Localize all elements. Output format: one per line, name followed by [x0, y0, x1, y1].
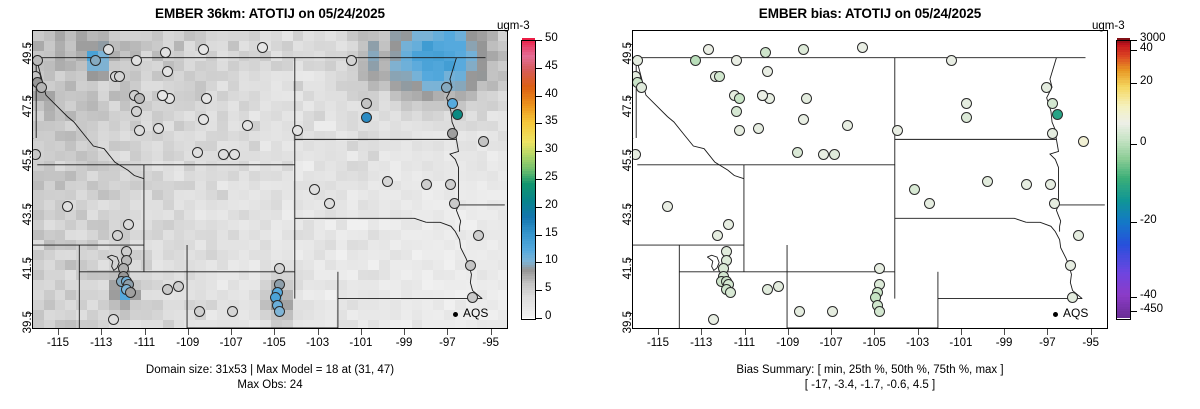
station-marker [274, 306, 285, 317]
x-tick-label: -109 [766, 337, 810, 349]
y-tick-label: 49.5 [622, 42, 634, 72]
station-marker [792, 147, 803, 158]
station-marker [162, 284, 173, 295]
x-tick [447, 329, 448, 335]
colorbar-border [521, 40, 536, 320]
x-tick-label: -99 [382, 337, 426, 349]
colorbar-tick-label: 50 [545, 32, 558, 44]
x-tick [1004, 329, 1005, 335]
x-tick-label: -97 [1025, 337, 1069, 349]
colorbar-tick [1131, 222, 1137, 223]
x-tick [188, 329, 189, 335]
x-tick [918, 329, 919, 335]
station-marker [801, 93, 812, 104]
colorbar-tick [1131, 40, 1137, 41]
x-tick [1047, 329, 1048, 335]
state-boundaries-map-bias [633, 31, 1107, 328]
x-tick [101, 329, 102, 335]
station-marker [134, 93, 145, 104]
station-marker [227, 306, 238, 317]
station-marker [842, 120, 853, 131]
colorbar-tick [536, 179, 542, 180]
station-marker [162, 66, 173, 77]
colorbar-tick [1131, 144, 1137, 145]
y-tick-label: 39.5 [622, 311, 634, 341]
panel-title-model: EMBER 36km: ATOTIJ on 05/24/2025 [0, 6, 540, 21]
y-tick-label: 43.5 [22, 203, 34, 233]
y-tick-label: 39.5 [22, 311, 34, 341]
colorbar-tick-label: 10 [545, 254, 558, 266]
station-marker [874, 306, 885, 317]
station-marker [874, 263, 885, 274]
colorbar-tick [536, 290, 542, 291]
x-tick-label: -95 [469, 337, 513, 349]
colorbar-tick-label: 40 [545, 88, 558, 100]
aqs-legend-dot-bias [1053, 312, 1058, 317]
colorbar-tick [536, 262, 542, 263]
x-tick-label: -107 [809, 337, 853, 349]
x-tick-label: -101 [339, 337, 383, 349]
colorbar-tick-label: 20 [1140, 75, 1153, 87]
colorbar-tick-label: -20 [1140, 214, 1157, 226]
colorbar-tick [536, 68, 542, 69]
x-tick [231, 329, 232, 335]
station-marker [441, 82, 452, 93]
station-marker [1078, 136, 1089, 147]
station-marker [725, 287, 736, 298]
y-tick-label: 45.5 [22, 149, 34, 179]
caption-model-line1: Domain size: 31x53 | Max Model = 18 at (… [0, 364, 540, 376]
station-marker [892, 125, 903, 136]
station-marker [662, 201, 673, 212]
panel-bias: EMBER bias: ATOTIJ on 05/24/2025 AQS -11… [600, 0, 1200, 409]
x-tick [961, 329, 962, 335]
plot-area-model: AQS [32, 30, 508, 329]
station-marker [173, 281, 184, 292]
x-tick-label: -97 [425, 337, 469, 349]
x-tick-label: -109 [166, 337, 210, 349]
station-marker [125, 287, 136, 298]
x-tick-label: -105 [252, 337, 296, 349]
state-boundaries-map [33, 31, 507, 328]
x-tick-label: -115 [36, 337, 80, 349]
caption-bias-line2: [ -17, -3.4, -1.7, -0.6, 4.5 ] [600, 379, 1140, 391]
x-tick-label: -95 [1069, 337, 1113, 349]
x-tick [701, 329, 702, 335]
colorbar-tick [1131, 50, 1137, 51]
colorbar-tick-label: 25 [545, 171, 558, 183]
station-marker [760, 47, 771, 58]
colorbar-tick-label: 0 [545, 310, 551, 322]
station-marker [712, 230, 723, 241]
station-marker [1065, 260, 1076, 271]
station-marker [201, 93, 212, 104]
station-marker [112, 230, 123, 241]
station-marker [274, 263, 285, 274]
colorbar-tick [536, 318, 542, 319]
station-marker [753, 123, 764, 134]
station-marker [447, 128, 458, 139]
station-marker [762, 66, 773, 77]
y-tick-label: 43.5 [622, 203, 634, 233]
colorbar-tick-label: 0 [1140, 136, 1146, 148]
x-tick [491, 329, 492, 335]
station-marker [762, 284, 773, 295]
station-marker [467, 292, 478, 303]
station-marker [946, 55, 957, 66]
station-marker [734, 93, 745, 104]
station-marker [346, 55, 357, 66]
colorbar-tick-label: 15 [545, 227, 558, 239]
colorbar-tick-label: -40 [1140, 289, 1157, 301]
station-marker [961, 98, 972, 109]
colorbar-title: ugm-3 [497, 20, 530, 32]
colorbar-tick [536, 123, 542, 124]
y-tick-label: 47.5 [622, 95, 634, 125]
x-tick-label: -111 [723, 337, 767, 349]
station-marker [773, 281, 784, 292]
station-marker [1047, 128, 1058, 139]
station-marker [361, 98, 372, 109]
y-tick-label: 47.5 [22, 95, 34, 125]
station-marker [194, 306, 205, 317]
x-tick-label: -107 [209, 337, 253, 349]
colorbar-tick [536, 207, 542, 208]
colorbar-tick-label: 30 [545, 143, 558, 155]
station-marker [160, 47, 171, 58]
x-tick [145, 329, 146, 335]
colorbar-tick-label: 35 [545, 115, 558, 127]
station-marker [1067, 292, 1078, 303]
colorbar-tick [1131, 83, 1137, 84]
station-marker [1052, 109, 1063, 120]
x-tick [745, 329, 746, 335]
x-tick [361, 329, 362, 335]
colorbar-border [1116, 40, 1131, 320]
colorbar-tick-label: 20 [545, 199, 558, 211]
x-tick [788, 329, 789, 335]
x-tick [874, 329, 875, 335]
x-tick [658, 329, 659, 335]
y-tick-label: 45.5 [622, 149, 634, 179]
y-tick-label: 49.5 [22, 42, 34, 72]
aqs-legend-dot [453, 312, 458, 317]
y-tick-label: 41.5 [622, 257, 634, 287]
aqs-legend-label: AQS [463, 306, 488, 320]
x-tick [831, 329, 832, 335]
colorbar-tick [536, 235, 542, 236]
x-tick [1091, 329, 1092, 335]
x-tick-label: -115 [636, 337, 680, 349]
station-marker [62, 201, 73, 212]
panel-model: EMBER 36km: ATOTIJ on 05/24/2025 AQS -11… [0, 0, 600, 409]
y-tick-label: 41.5 [22, 257, 34, 287]
station-marker [153, 123, 164, 134]
aqs-legend-label-bias: AQS [1063, 306, 1088, 320]
station-marker [708, 314, 719, 325]
x-tick-label: -103 [296, 337, 340, 349]
plot-area-bias: AQS [632, 30, 1108, 329]
x-tick-label: -113 [679, 337, 723, 349]
station-marker [794, 306, 805, 317]
x-tick-label: -103 [896, 337, 940, 349]
x-tick-label: -105 [852, 337, 896, 349]
station-marker [478, 136, 489, 147]
figure-root: EMBER 36km: ATOTIJ on 05/24/2025 AQS -11… [0, 0, 1200, 409]
x-tick [318, 329, 319, 335]
x-tick [58, 329, 59, 335]
caption-bias-line1: Bias Summary: [ min, 25th %, 50th %, 75t… [600, 364, 1140, 376]
station-marker [827, 306, 838, 317]
x-tick [274, 329, 275, 335]
panel-title-bias: EMBER bias: ATOTIJ on 05/24/2025 [600, 6, 1140, 21]
station-marker [1041, 82, 1052, 93]
station-marker [452, 109, 463, 120]
station-marker [465, 260, 476, 271]
caption-model-line2: Max Obs: 24 [0, 379, 540, 391]
x-tick-label: -111 [123, 337, 167, 349]
x-tick-label: -101 [939, 337, 983, 349]
x-tick [404, 329, 405, 335]
station-marker [242, 120, 253, 131]
x-tick-label: -113 [79, 337, 123, 349]
station-marker [324, 198, 335, 209]
station-marker [257, 42, 268, 53]
station-marker [192, 147, 203, 158]
station-marker [134, 125, 145, 136]
colorbar-tick-label: 5 [545, 282, 551, 294]
station-marker [857, 42, 868, 53]
station-marker [961, 112, 972, 123]
colorbar-tick [1131, 297, 1137, 298]
station-marker [108, 314, 119, 325]
station-marker [924, 198, 935, 209]
x-tick-label: -99 [982, 337, 1026, 349]
colorbar-tick-label: 40 [1140, 42, 1153, 54]
colorbar-tick [536, 151, 542, 152]
colorbar-tick [536, 96, 542, 97]
station-marker [361, 112, 372, 123]
colorbar-title: ugm-3 [1092, 20, 1125, 32]
colorbar-tick [536, 40, 542, 41]
station-marker [734, 125, 745, 136]
station-marker [292, 125, 303, 136]
colorbar-tick-label: 45 [545, 60, 558, 72]
colorbar-tick-label: -450 [1140, 303, 1163, 315]
colorbar-tick [1131, 311, 1137, 312]
